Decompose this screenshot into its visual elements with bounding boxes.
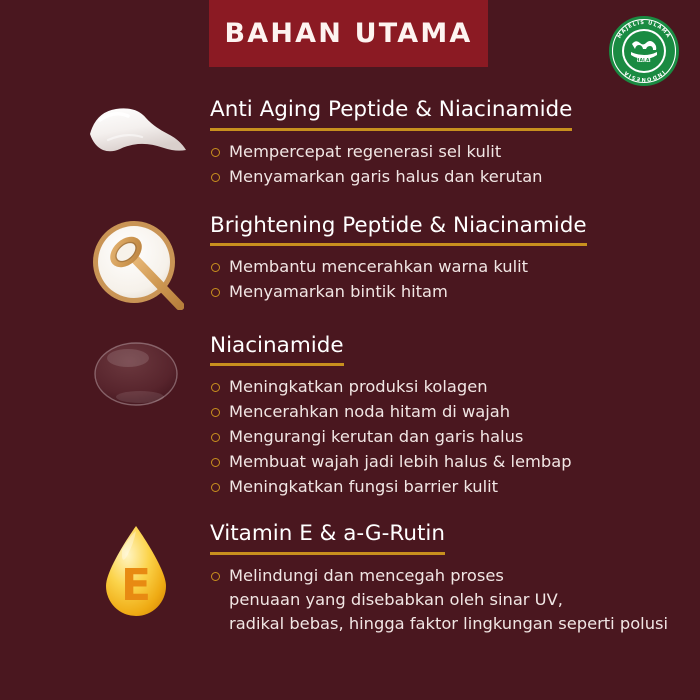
- list-item: Membuat wajah jadi lebih halus & lembap: [210, 450, 700, 474]
- gel-droplet-icon: [88, 334, 184, 410]
- section-text: Vitamin E & a-G-Rutin Melindungi dan men…: [210, 520, 700, 637]
- icon-container: [62, 96, 210, 174]
- ingredient-section-niacinamide: Niacinamide Meningkatkan produksi kolage…: [0, 332, 700, 500]
- icon-container: [62, 212, 210, 310]
- ingredient-sections: Anti Aging Peptide & Niacinamide Memperc…: [0, 96, 700, 651]
- list-item: Melindungi dan mencegah proses penuaan y…: [210, 564, 700, 636]
- halal-inner-text: HALAL: [636, 58, 653, 64]
- cream-swatch-icon: [84, 98, 188, 174]
- ingredient-section-brightening: Brightening Peptide & Niacinamide Memban…: [0, 212, 700, 310]
- section-heading: Brightening Peptide & Niacinamide: [210, 214, 587, 247]
- list-item: Mencerahkan noda hitam di wajah: [210, 400, 700, 424]
- benefit-list: Mempercepat regenerasi sel kulit Menyama…: [210, 140, 700, 189]
- benefit-list: Membantu mencerahkan warna kulit Menyama…: [210, 255, 700, 304]
- section-text: Niacinamide Meningkatkan produksi kolage…: [210, 332, 700, 500]
- section-heading: Anti Aging Peptide & Niacinamide: [210, 98, 572, 131]
- section-text: Brightening Peptide & Niacinamide Memban…: [210, 212, 700, 306]
- icon-container: [62, 332, 210, 410]
- section-heading: Niacinamide: [210, 334, 344, 367]
- section-text: Anti Aging Peptide & Niacinamide Memperc…: [210, 96, 700, 190]
- list-item: Meningkatkan fungsi barrier kulit: [210, 475, 700, 499]
- section-heading: Vitamin E & a-G-Rutin: [210, 522, 445, 555]
- title-banner: BAHAN UTAMA: [209, 0, 488, 67]
- ingredient-section-vitamin-e: E Vitamin E & a-G-Rutin Melindungi dan m…: [0, 520, 700, 637]
- icon-container: E: [62, 520, 210, 626]
- vitamin-e-drop-icon: E: [96, 522, 176, 626]
- benefit-list: Meningkatkan produksi kolagen Mencerahka…: [210, 375, 700, 499]
- list-item: Membantu mencerahkan warna kulit: [210, 255, 700, 279]
- mui-halal-logo: HALAL MAJELIS ULAMA INDONESIA: [607, 14, 681, 88]
- powder-bowl-spoon-icon: [88, 214, 184, 310]
- ingredient-section-anti-aging: Anti Aging Peptide & Niacinamide Memperc…: [0, 96, 700, 190]
- benefit-list: Melindungi dan mencegah proses penuaan y…: [210, 564, 700, 636]
- page-header: BAHAN UTAMA HALAL MAJELIS ULAMA INDON: [0, 0, 700, 88]
- list-item: Menyamarkan bintik hitam: [210, 280, 700, 304]
- list-item: Mempercepat regenerasi sel kulit: [210, 140, 700, 164]
- vitamin-e-letter: E: [121, 560, 151, 611]
- list-item: Mengurangi kerutan dan garis halus: [210, 425, 700, 449]
- list-item: Menyamarkan garis halus dan kerutan: [210, 165, 700, 189]
- list-item: Meningkatkan produksi kolagen: [210, 375, 700, 399]
- page-title: BAHAN UTAMA: [224, 18, 472, 49]
